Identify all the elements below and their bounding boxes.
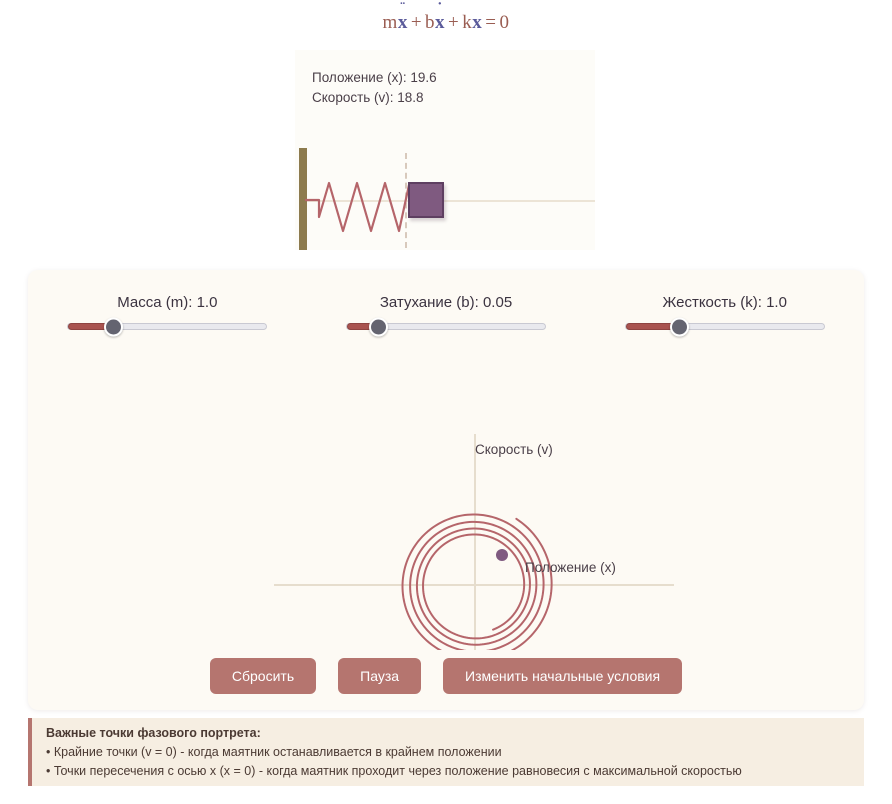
reset-button[interactable]: Сбросить xyxy=(210,658,316,694)
phase-portrait-plot xyxy=(28,350,864,650)
stiffness-slider-label: Жесткость (k): 1.0 xyxy=(662,294,786,311)
equation-term-x-dot: x xyxy=(435,12,445,34)
damping-slider-label: Затухание (b): 0.05 xyxy=(380,294,512,311)
mass-block[interactable] xyxy=(408,182,444,218)
equation-term-zero: 0 xyxy=(499,12,509,33)
pause-button[interactable]: Пауза xyxy=(338,658,421,694)
stiffness-slider-thumb[interactable] xyxy=(670,317,689,336)
info-note-item-1: • Крайние точки (v = 0) - когда маятник … xyxy=(46,743,850,762)
phase-trajectory-spiral xyxy=(403,514,552,650)
stiffness-slider[interactable] xyxy=(625,323,825,330)
slider-group-damping: Затухание (b): 0.05 xyxy=(307,270,586,350)
motion-equation: mx+bx+kx=0 xyxy=(383,12,510,34)
mass-slider-label: Масса (m): 1.0 xyxy=(117,294,217,311)
state-readout: Положение (x): 19.6 Скорость (v): 18.8 xyxy=(312,68,437,108)
equation-operator-plus-2: + xyxy=(445,12,462,33)
action-buttons: Сбросить Пауза Изменить начальные услови… xyxy=(28,658,864,694)
equation-term-x-ddot: x xyxy=(398,12,408,34)
equation-term-m: m xyxy=(383,12,398,33)
equation-term-x: x xyxy=(472,12,482,33)
equation-operator-plus-1: + xyxy=(408,12,425,33)
phase-y-axis-label: Скорость (v) xyxy=(475,442,553,457)
spring-mass-simulation-canvas: Положение (x): 19.6 Скорость (v): 18.8 xyxy=(295,50,595,250)
slider-group-stiffness: Жесткость (k): 1.0 xyxy=(585,270,864,350)
phase-x-axis-label: Положение (x) xyxy=(525,560,616,575)
parameter-sliders: Масса (m): 1.0 Затухание (b): 0.05 Жестк… xyxy=(28,270,864,350)
info-note-item-2: • Точки пересечения с осью x (x = 0) - к… xyxy=(46,762,850,781)
mass-slider[interactable] xyxy=(67,323,267,330)
app-root: mx+bx+kx=0 Положение (x): 19.6 Скорость … xyxy=(0,0,892,804)
equation-operator-equals: = xyxy=(482,12,499,33)
equation-container: mx+bx+kx=0 xyxy=(0,12,892,34)
damping-slider[interactable] xyxy=(346,323,546,330)
change-initial-conditions-button[interactable]: Изменить начальные условия xyxy=(443,658,682,694)
velocity-readout: Скорость (v): 18.8 xyxy=(312,88,437,108)
slider-group-mass: Масса (m): 1.0 xyxy=(28,270,307,350)
info-note-title: Важные точки фазового портрета: xyxy=(46,726,850,740)
controls-card: Масса (m): 1.0 Затухание (b): 0.05 Жестк… xyxy=(28,270,864,710)
phase-state-marker xyxy=(496,549,508,561)
equation-term-k: k xyxy=(462,12,472,33)
equation-term-b: b xyxy=(425,12,435,33)
mass-slider-thumb[interactable] xyxy=(104,317,123,336)
position-readout: Положение (x): 19.6 xyxy=(312,68,437,88)
spring-coil xyxy=(305,155,423,247)
damping-slider-thumb[interactable] xyxy=(369,317,388,336)
info-note: Важные точки фазового портрета: • Крайни… xyxy=(28,718,864,786)
phase-portrait: Скорость (v) Положение (x) xyxy=(28,350,864,650)
